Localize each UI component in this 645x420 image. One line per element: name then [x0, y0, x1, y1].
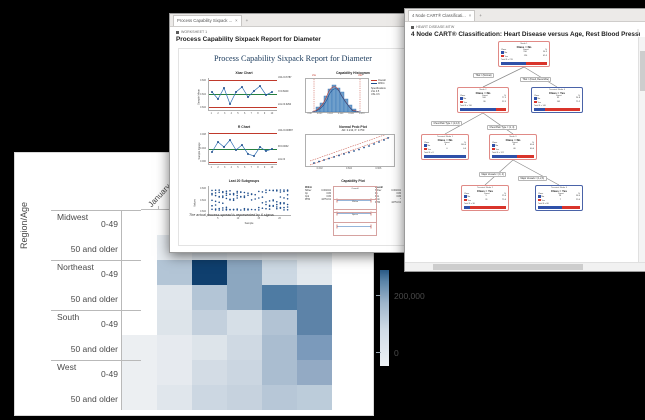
heatmap-cell[interactable]: [262, 335, 297, 360]
tick: 0.606: [197, 187, 206, 190]
horizontal-scrollbar[interactable]: [405, 262, 645, 271]
heatmap-cell[interactable]: [332, 360, 367, 385]
histogram-plot: LSL USL: [305, 78, 369, 113]
cart-node[interactable]: Terminal Node 1Class = NoClassCount%No81…: [421, 134, 469, 160]
tick: 0.008: [197, 133, 206, 136]
heatmap-row-header: Northeast0-49: [51, 260, 121, 285]
heatmap-cell[interactable]: [157, 360, 192, 385]
tick: 0.608: [348, 113, 353, 115]
colorbar-tick-max: [376, 295, 381, 296]
stat-key: PPM: [305, 199, 310, 202]
class-color-swatch: [501, 51, 504, 54]
heatmap-row: 50 and older: [51, 385, 367, 410]
node-total: Total N = 270: [499, 59, 549, 61]
band-label: Overall: [335, 188, 375, 190]
node-total: Total N = 130: [458, 105, 508, 107]
heatmap-age-label: 50 and older: [71, 394, 118, 404]
tick: 6: [244, 112, 245, 115]
cart-node[interactable]: Node 3Class = NoClassCount%No9260.0Yes40…: [489, 134, 537, 160]
tick: 15: [257, 217, 260, 220]
tick: 5: [237, 112, 238, 115]
tab-cart-classification[interactable]: 4 Node CART® Classificati... ×: [408, 10, 475, 21]
heatmap-cell[interactable]: [332, 260, 367, 285]
tick: 0.606: [375, 167, 381, 170]
tick: 7: [251, 166, 252, 169]
node-table: ClassCount%No10077.5Yes3022.5: [458, 95, 508, 105]
heatmap-cell[interactable]: [227, 310, 262, 335]
bar-yes: [517, 155, 534, 158]
panel-last-20-subgroups: Last 20 Subgroups Values 0.606 0.604 0.6…: [193, 179, 295, 227]
probplot-points: [306, 135, 394, 166]
heatmap-cell[interactable]: [332, 285, 367, 310]
histogram-title: Capability Histogram: [303, 71, 403, 75]
breadcrumb-label: HEART DISEASE.MTW: [416, 25, 454, 29]
tick: 1: [211, 166, 212, 169]
probplot-xticks: 0.602 0.604 0.606: [305, 167, 393, 170]
cart-edge-label: Thal = (Normal): [473, 73, 494, 78]
heatmap-age-label: 0-49: [101, 369, 118, 379]
heatmap-row-cells: [121, 285, 367, 310]
heatmap-cell[interactable]: [332, 335, 367, 360]
last20-title: Last 20 Subgroups: [193, 179, 295, 183]
node-bar: [464, 206, 506, 209]
heatmap-y-axis-label: Region/Age: [19, 202, 29, 249]
heatmap-cell[interactable]: [192, 385, 227, 410]
heatmap-row-header: 50 and older: [51, 335, 121, 360]
class-color-swatch: [534, 101, 537, 104]
cart-edge-label: Thal = (Fixed, Reversible): [520, 77, 551, 82]
heatmap-row-header: 50 and older: [51, 385, 121, 410]
breadcrumb: HEART DISEASE.MTW: [411, 25, 640, 29]
legend-within: Within: [378, 82, 385, 85]
heatmap-age-label: 0-49: [101, 319, 118, 329]
band-label: Within: [335, 201, 375, 203]
cart-tree: Node 1Class = NoClassCount%No15054.5Yes1…: [405, 37, 645, 271]
node-table: ClassCount%No3524.8Yes10575.2: [532, 95, 582, 105]
class-color-swatch: [501, 55, 504, 58]
bar-yes: [562, 206, 580, 209]
tick: 8: [257, 166, 258, 169]
tick: 4: [231, 112, 232, 115]
bar-yes: [470, 206, 506, 209]
heatmap-age-label: 50 and older: [71, 344, 118, 354]
xbar-ucl-label: UCL=0.6787: [278, 76, 292, 79]
region-divider: [51, 360, 141, 361]
heatmap-age-label: 50 and older: [71, 244, 118, 254]
heatmap-row-header: 50 and older: [51, 285, 121, 310]
heatmap-cell[interactable]: [157, 310, 192, 335]
cart-node[interactable]: Node 1Class = NoClassCount%No15054.5Yes1…: [498, 41, 550, 67]
histogram-usl-label: USL: [358, 75, 362, 77]
xbar-center-label: X=0.6040: [278, 90, 288, 93]
heatmap-cell[interactable]: [297, 335, 332, 360]
histogram-xticks: 0.60 0.602 0.604 0.606 0.608 0.610: [305, 113, 367, 115]
heatmap-cell[interactable]: [297, 310, 332, 335]
node-total: Total N = 140: [532, 105, 582, 107]
heatmap-cell[interactable]: [122, 235, 157, 260]
heatmap-row-cells: [121, 310, 367, 335]
region-divider: [51, 260, 141, 261]
tick: 10: [271, 166, 274, 169]
heatmap-row: West0-49: [51, 360, 367, 385]
tick: 0.606: [197, 79, 206, 82]
tick: 0.606: [338, 113, 343, 115]
within-line-swatch: [371, 83, 377, 84]
cart-edge-label: Chest Pain Type = (1,2,3): [431, 121, 462, 126]
heatmap-cell[interactable]: [122, 360, 157, 385]
heatmap-row-cells: [121, 260, 367, 285]
heatmap-cell[interactable]: [297, 385, 332, 410]
tick: 0.602: [317, 113, 322, 115]
close-icon[interactable]: ×: [469, 13, 471, 18]
tick: 9: [264, 166, 265, 169]
capplot-band-specs: Specs: [333, 212, 377, 236]
last20-plot: [208, 186, 291, 216]
tick: 0.604: [346, 167, 352, 170]
tab-label: Process Capability Sixpack ...: [177, 18, 232, 23]
report-footnote: The actual process spread is represented…: [189, 213, 275, 217]
window-tab-bar[interactable]: Process Capability Sixpack ... × +: [170, 14, 416, 27]
heatmap-cell[interactable]: [122, 310, 157, 335]
xbar-title: Xbar Chart: [193, 71, 295, 75]
tick: 0.610: [359, 113, 364, 115]
rchart-lcl-label: LCL=0: [278, 158, 285, 161]
cart-edge-label: Major Vessels = (1,2,3): [518, 176, 547, 181]
last20-yticks: 0.606 0.604 0.602: [197, 187, 206, 213]
heatmap-cell[interactable]: [192, 260, 227, 285]
tick: 0.000: [197, 160, 206, 163]
heatmap-colorbar: [380, 270, 389, 366]
class-color-swatch: [464, 199, 467, 202]
node-bar: [534, 108, 580, 111]
heatmap-cell[interactable]: [297, 285, 332, 310]
bar-yes: [545, 108, 580, 111]
add-tab-icon[interactable]: +: [246, 18, 249, 23]
heatmap-region-label: West: [57, 362, 76, 372]
overall-line-swatch: [371, 80, 377, 81]
bar-no: [538, 206, 562, 209]
heatmap-cell[interactable]: [227, 285, 262, 310]
node-bar: [538, 206, 580, 209]
tick: 2: [217, 166, 218, 169]
tick: 6: [244, 166, 245, 169]
colorbar-max-label: 200,000: [394, 291, 425, 301]
bar-no: [424, 155, 466, 158]
probplot-plot: [305, 134, 395, 167]
tick: 2: [217, 112, 218, 115]
heatmap-row-cells: [121, 335, 367, 360]
heatmap-cell[interactable]: [297, 360, 332, 385]
xbar-plot: [208, 78, 277, 111]
spec-usl: USL 0.6: [371, 93, 386, 96]
class-color-swatch: [460, 97, 463, 100]
rchart-xticks: 1 2 3 4 5 6 7 8 9 10: [208, 166, 276, 169]
heatmap-cell[interactable]: [192, 285, 227, 310]
heatmap-region-label: Northeast: [57, 262, 94, 272]
cart-node[interactable]: Terminal Node 4Class = YesClassCount%No3…: [531, 87, 583, 113]
tick: 3: [224, 112, 225, 115]
tick: 0.604: [197, 199, 206, 202]
tick: 1: [211, 112, 212, 115]
probplot-subtitle: AD: 0.213, P: 0.750: [303, 129, 403, 132]
xbar-series: [209, 78, 277, 110]
class-color-swatch: [464, 195, 467, 198]
heatmap-cell[interactable]: [262, 385, 297, 410]
stat-val: 44751.61: [391, 202, 401, 205]
heatmap-row: 50 and older: [51, 335, 367, 360]
panel-normal-prob-plot: Normal Prob Plot AD: 0.213, P: 0.750: [303, 125, 403, 173]
heatmap-row: 50 and older: [51, 285, 367, 310]
tick: 9: [264, 112, 265, 115]
bar-no: [460, 108, 496, 111]
heatmap-row-header: South0-49: [51, 310, 121, 335]
bar-no: [492, 155, 517, 158]
tick: 0.004: [197, 147, 206, 150]
heatmap-row-cells: [121, 385, 367, 410]
rchart-plot: [208, 132, 277, 165]
bar-yes: [496, 108, 506, 111]
node-bar: [492, 155, 534, 158]
rchart-series: [209, 132, 277, 164]
heatmap-row-cells: [121, 360, 367, 385]
heatmap-cell[interactable]: [122, 385, 157, 410]
histogram-legend: Overall Within Specifications LSL 0.5 US…: [371, 79, 386, 96]
heatmap-row: Northeast0-49: [51, 260, 367, 285]
panel-xbar-chart: Xbar Chart Sample Mean 0.606 0.604 0.602: [193, 71, 295, 119]
node-table: ClassCount%No8100.0Yes00.0: [422, 142, 468, 152]
tab-process-capability[interactable]: Process Capability Sixpack ... ×: [173, 15, 242, 26]
xbar-yticks: 0.606 0.604 0.602: [197, 79, 206, 109]
add-tab-icon[interactable]: +: [479, 13, 482, 18]
heatmap-cell[interactable]: [332, 385, 367, 410]
heatmap-cell[interactable]: [332, 310, 367, 335]
cart-node[interactable]: Node 2Class = NoClassCount%No10077.5Yes3…: [457, 87, 509, 113]
breadcrumb: WORKSHEET 1: [176, 30, 410, 34]
last20-ylabel: Values: [193, 199, 196, 207]
report-canvas: Process Capability Sixpack Report for Di…: [178, 48, 408, 246]
band-label: Specs: [335, 214, 375, 216]
node-table: ClassCount%No515.0Yes3175.0: [462, 193, 508, 203]
capplot-within-stats: Within StDev0.001041 Cp0.80 Cpk0.80 PPM4…: [305, 187, 331, 202]
node-bar: [460, 108, 506, 111]
tick: 10: [271, 112, 274, 115]
worksheet-icon: [176, 31, 179, 34]
region-divider: [51, 310, 141, 311]
heatmap-cell[interactable]: [157, 260, 192, 285]
node-total: Total N = 36: [462, 203, 508, 205]
heatmap-cell[interactable]: [262, 360, 297, 385]
heatmap-age-label: 0-49: [101, 269, 118, 279]
tick: 4: [231, 166, 232, 169]
panel-capability-histogram: Capability Histogram: [303, 71, 403, 119]
region-divider: [51, 210, 141, 211]
heatmap-cell[interactable]: [227, 260, 262, 285]
cart-node[interactable]: Terminal Node 3Class = YesClassCount%No2…: [535, 185, 583, 211]
node-bar: [501, 62, 547, 65]
last20-points: [209, 186, 291, 215]
heatmap-cell[interactable]: [262, 260, 297, 285]
tick: 10: [237, 217, 240, 220]
heatmap-cell[interactable]: [297, 260, 332, 285]
class-color-swatch: [424, 148, 427, 151]
node-table: ClassCount%No9260.0Yes4040.0: [490, 142, 536, 152]
rchart-center-label: R=0.0032: [278, 145, 288, 148]
desktop-background: Region/Age January Midwest0-4950 and old…: [0, 0, 645, 420]
tick: 7: [251, 112, 252, 115]
heatmap-cell[interactable]: [122, 260, 157, 285]
heatmap-age-label: 50 and older: [71, 294, 118, 304]
tick: 0.604: [197, 93, 206, 96]
panel-capability-plot: Capability Plot Within StDev0.001041 Cp0…: [303, 179, 403, 227]
last20-xticks: 5 10 15 20: [208, 217, 290, 220]
more-options-icon[interactable]: ⋮: [635, 31, 641, 35]
heatmap-cell[interactable]: [192, 360, 227, 385]
node-table: ClassCount%No2858.0Yes729.0: [536, 193, 582, 203]
node-total: Total N = 8: [422, 152, 468, 154]
tick: 0.602: [317, 167, 323, 170]
tick: 0.60: [308, 113, 312, 115]
cart-body: Node 1Class = NoClassCount%No15054.5Yes1…: [405, 37, 645, 271]
histogram-lsl-label: LSL: [312, 75, 316, 77]
report-body: Process Capability Sixpack Report for Di…: [170, 42, 416, 252]
breadcrumb-label: WORKSHEET 1: [181, 30, 207, 34]
band-specs-line: [335, 224, 373, 229]
class-color-swatch: [538, 195, 541, 198]
last20-xlabel: Sample: [245, 222, 254, 225]
colorbar-min-label: 0: [394, 348, 399, 358]
cart-classification-window[interactable]: 4 Node CART® Classificati... × + HEART D…: [404, 8, 645, 272]
class-color-swatch: [492, 148, 495, 151]
heatmap-cell[interactable]: [262, 310, 297, 335]
process-capability-window[interactable]: Process Capability Sixpack ... × + WORKS…: [169, 13, 417, 253]
heatmap-cell[interactable]: [227, 360, 262, 385]
node-table: ClassCount%No15054.5Yes12045.5: [499, 49, 549, 59]
cart-node[interactable]: Terminal Node 2Class = YesClassCount%No5…: [461, 185, 509, 211]
window-tab-bar[interactable]: 4 Node CART® Classificati... × +: [405, 9, 645, 22]
cart-edge-label: Chest Pain Type = (1, 4): [487, 125, 517, 130]
heatmap-cell[interactable]: [122, 335, 157, 360]
class-color-swatch: [492, 144, 495, 147]
bar-no: [501, 62, 526, 65]
heatmap-row: South0-49: [51, 310, 367, 335]
colorbar-tick-min: [376, 352, 381, 353]
class-color-swatch: [460, 101, 463, 104]
heatmap-cell[interactable]: [157, 385, 192, 410]
heatmap-cell[interactable]: [122, 285, 157, 310]
tick: 0.604: [327, 113, 332, 115]
heatmap-cell[interactable]: [227, 335, 262, 360]
node-total: Total N = 86: [536, 203, 582, 205]
xbar-xticks: 1 2 3 4 5 6 7 8 9 10: [208, 112, 276, 115]
capplot-title: Capability Plot: [303, 179, 403, 183]
vertical-scrollbar[interactable]: [638, 37, 645, 263]
heatmap-cell[interactable]: [157, 285, 192, 310]
tick: 5: [217, 217, 218, 220]
heatmap-age-label: 0-49: [101, 219, 118, 229]
tick: 20: [278, 217, 281, 220]
heatmap-cell[interactable]: [157, 335, 192, 360]
rchart-yticks: 0.008 0.004 0.000: [197, 133, 206, 163]
node-total: Total N = 122: [490, 152, 536, 154]
bar-no: [534, 108, 545, 111]
tick: 3: [224, 166, 225, 169]
rchart-ucl-label: UCL=0.00687: [278, 129, 293, 132]
tick: 5: [237, 166, 238, 169]
heatmap-region-label: South: [57, 312, 79, 322]
heatmap-row-header: Midwest0-49: [51, 210, 121, 235]
class-color-swatch: [424, 144, 427, 147]
stat-val: 44751.61: [321, 199, 331, 202]
class-color-swatch: [538, 199, 541, 202]
heatmap-region-label: Midwest: [57, 212, 88, 222]
panel-r-chart: R Chart Sample Range 0.008 0.004 0.000: [193, 125, 295, 173]
cart-edge-label: Major Vessels = (0, 4): [479, 172, 506, 177]
tab-label: 4 Node CART® Classificati...: [412, 13, 466, 18]
heatmap-cell[interactable]: [262, 285, 297, 310]
heatmap-cell[interactable]: [122, 210, 157, 235]
scrollbar-thumb[interactable]: [433, 264, 583, 270]
histogram-bars: [306, 79, 368, 112]
node-bar: [424, 155, 466, 158]
report-title: Process Capability Sixpack Report for Di…: [179, 54, 407, 63]
xbar-lcl-label: LCL=0.6294: [278, 103, 291, 106]
heatmap-cell[interactable]: [192, 335, 227, 360]
worksheet-icon: [411, 26, 414, 29]
tick: 8: [257, 112, 258, 115]
heatmap-cell[interactable]: [227, 385, 262, 410]
heatmap-row-header: 50 and older: [51, 235, 121, 260]
bar-yes: [526, 62, 547, 65]
scrollbar-thumb[interactable]: [640, 51, 645, 91]
tick: 0.602: [197, 106, 206, 109]
close-icon[interactable]: ×: [235, 18, 237, 23]
heatmap-cell[interactable]: [192, 310, 227, 335]
class-color-swatch: [534, 97, 537, 100]
capplot-overall-stats: Overall StDev0.001041 Pp0.80 Ppk0.80 Cpm…: [375, 187, 401, 205]
heatmap-row-header: West0-49: [51, 360, 121, 385]
